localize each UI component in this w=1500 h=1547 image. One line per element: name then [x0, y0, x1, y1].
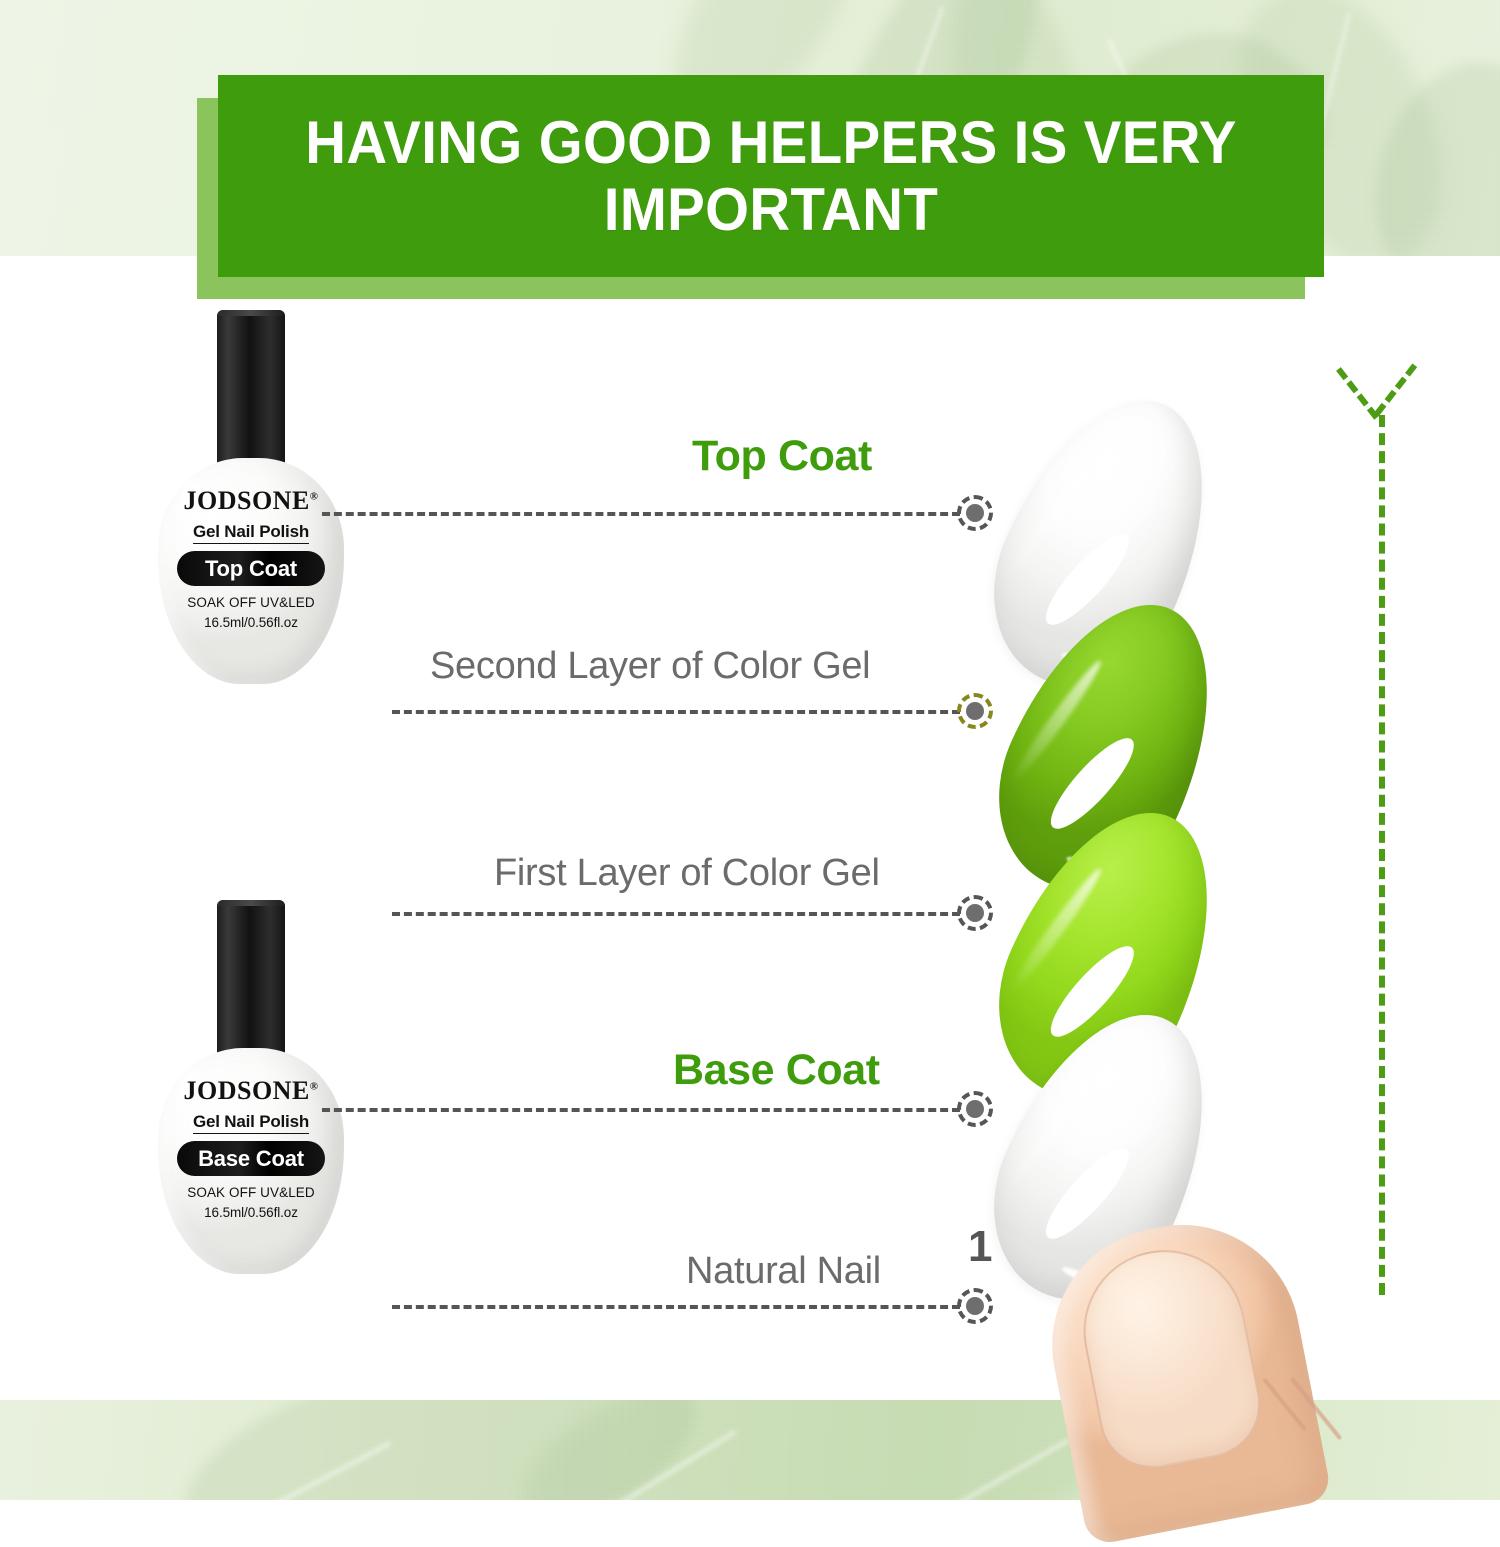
- brand-name: JODSONE®: [183, 486, 318, 516]
- bottle-cap: [217, 310, 285, 480]
- bottle-subtitle: Gel Nail Polish: [193, 1112, 309, 1134]
- infographic-canvas: HAVING GOOD HELPERS IS VERY IMPORTANT JO…: [0, 0, 1500, 1500]
- page-title: HAVING GOOD HELPERS IS VERY IMPORTANT: [285, 109, 1257, 243]
- step-number: 1: [968, 1222, 992, 1272]
- layer-label-first-color-gel: First Layer of Color Gel: [494, 852, 880, 895]
- target-dot-icon[interactable]: [957, 495, 993, 531]
- header-banner: HAVING GOOD HELPERS IS VERY IMPORTANT: [218, 75, 1324, 277]
- layer-label-base-coat: Base Coat: [673, 1046, 880, 1095]
- bottle-subtitle: Gel Nail Polish: [193, 522, 309, 544]
- bottle-cap: [217, 900, 285, 1070]
- base-coat-bottle[interactable]: JODSONE® Gel Nail Polish Base Coat SOAK …: [158, 900, 344, 1274]
- brand-name: JODSONE®: [183, 1076, 318, 1106]
- layer-label-natural-nail: Natural Nail: [686, 1250, 881, 1293]
- target-dot-icon[interactable]: [957, 1288, 993, 1324]
- registered-mark-icon: ®: [310, 490, 319, 502]
- bottle-label: JODSONE® Gel Nail Polish Base Coat SOAK …: [158, 1076, 344, 1220]
- product-name-pill: Base Coat: [177, 1141, 325, 1176]
- target-dot-icon[interactable]: [957, 693, 993, 729]
- connector-line-second-color-gel: [392, 710, 960, 714]
- layer-label-second-color-gel: Second Layer of Color Gel: [430, 645, 870, 688]
- connector-line-top-coat: [322, 512, 960, 516]
- bottle-usage: SOAK OFF UV&LED: [158, 595, 344, 610]
- layer-label-top-coat: Top Coat: [692, 432, 872, 481]
- target-dot-icon[interactable]: [957, 895, 993, 931]
- target-dot-icon[interactable]: [957, 1091, 993, 1127]
- connector-line-natural-nail: [392, 1305, 960, 1309]
- registered-mark-icon: ®: [310, 1080, 319, 1092]
- product-name-pill: Top Coat: [177, 551, 325, 586]
- top-coat-bottle[interactable]: JODSONE® Gel Nail Polish Top Coat SOAK O…: [158, 310, 344, 684]
- nail-highlight: [1035, 1138, 1139, 1248]
- connector-line-base-coat: [322, 1108, 960, 1112]
- connector-line-first-color-gel: [392, 912, 960, 916]
- bottle-volume: 16.5ml/0.56fl.oz: [158, 615, 344, 630]
- bottle-volume: 16.5ml/0.56fl.oz: [158, 1205, 344, 1220]
- bottle-usage: SOAK OFF UV&LED: [158, 1185, 344, 1200]
- bottle-label: JODSONE® Gel Nail Polish Top Coat SOAK O…: [158, 486, 344, 630]
